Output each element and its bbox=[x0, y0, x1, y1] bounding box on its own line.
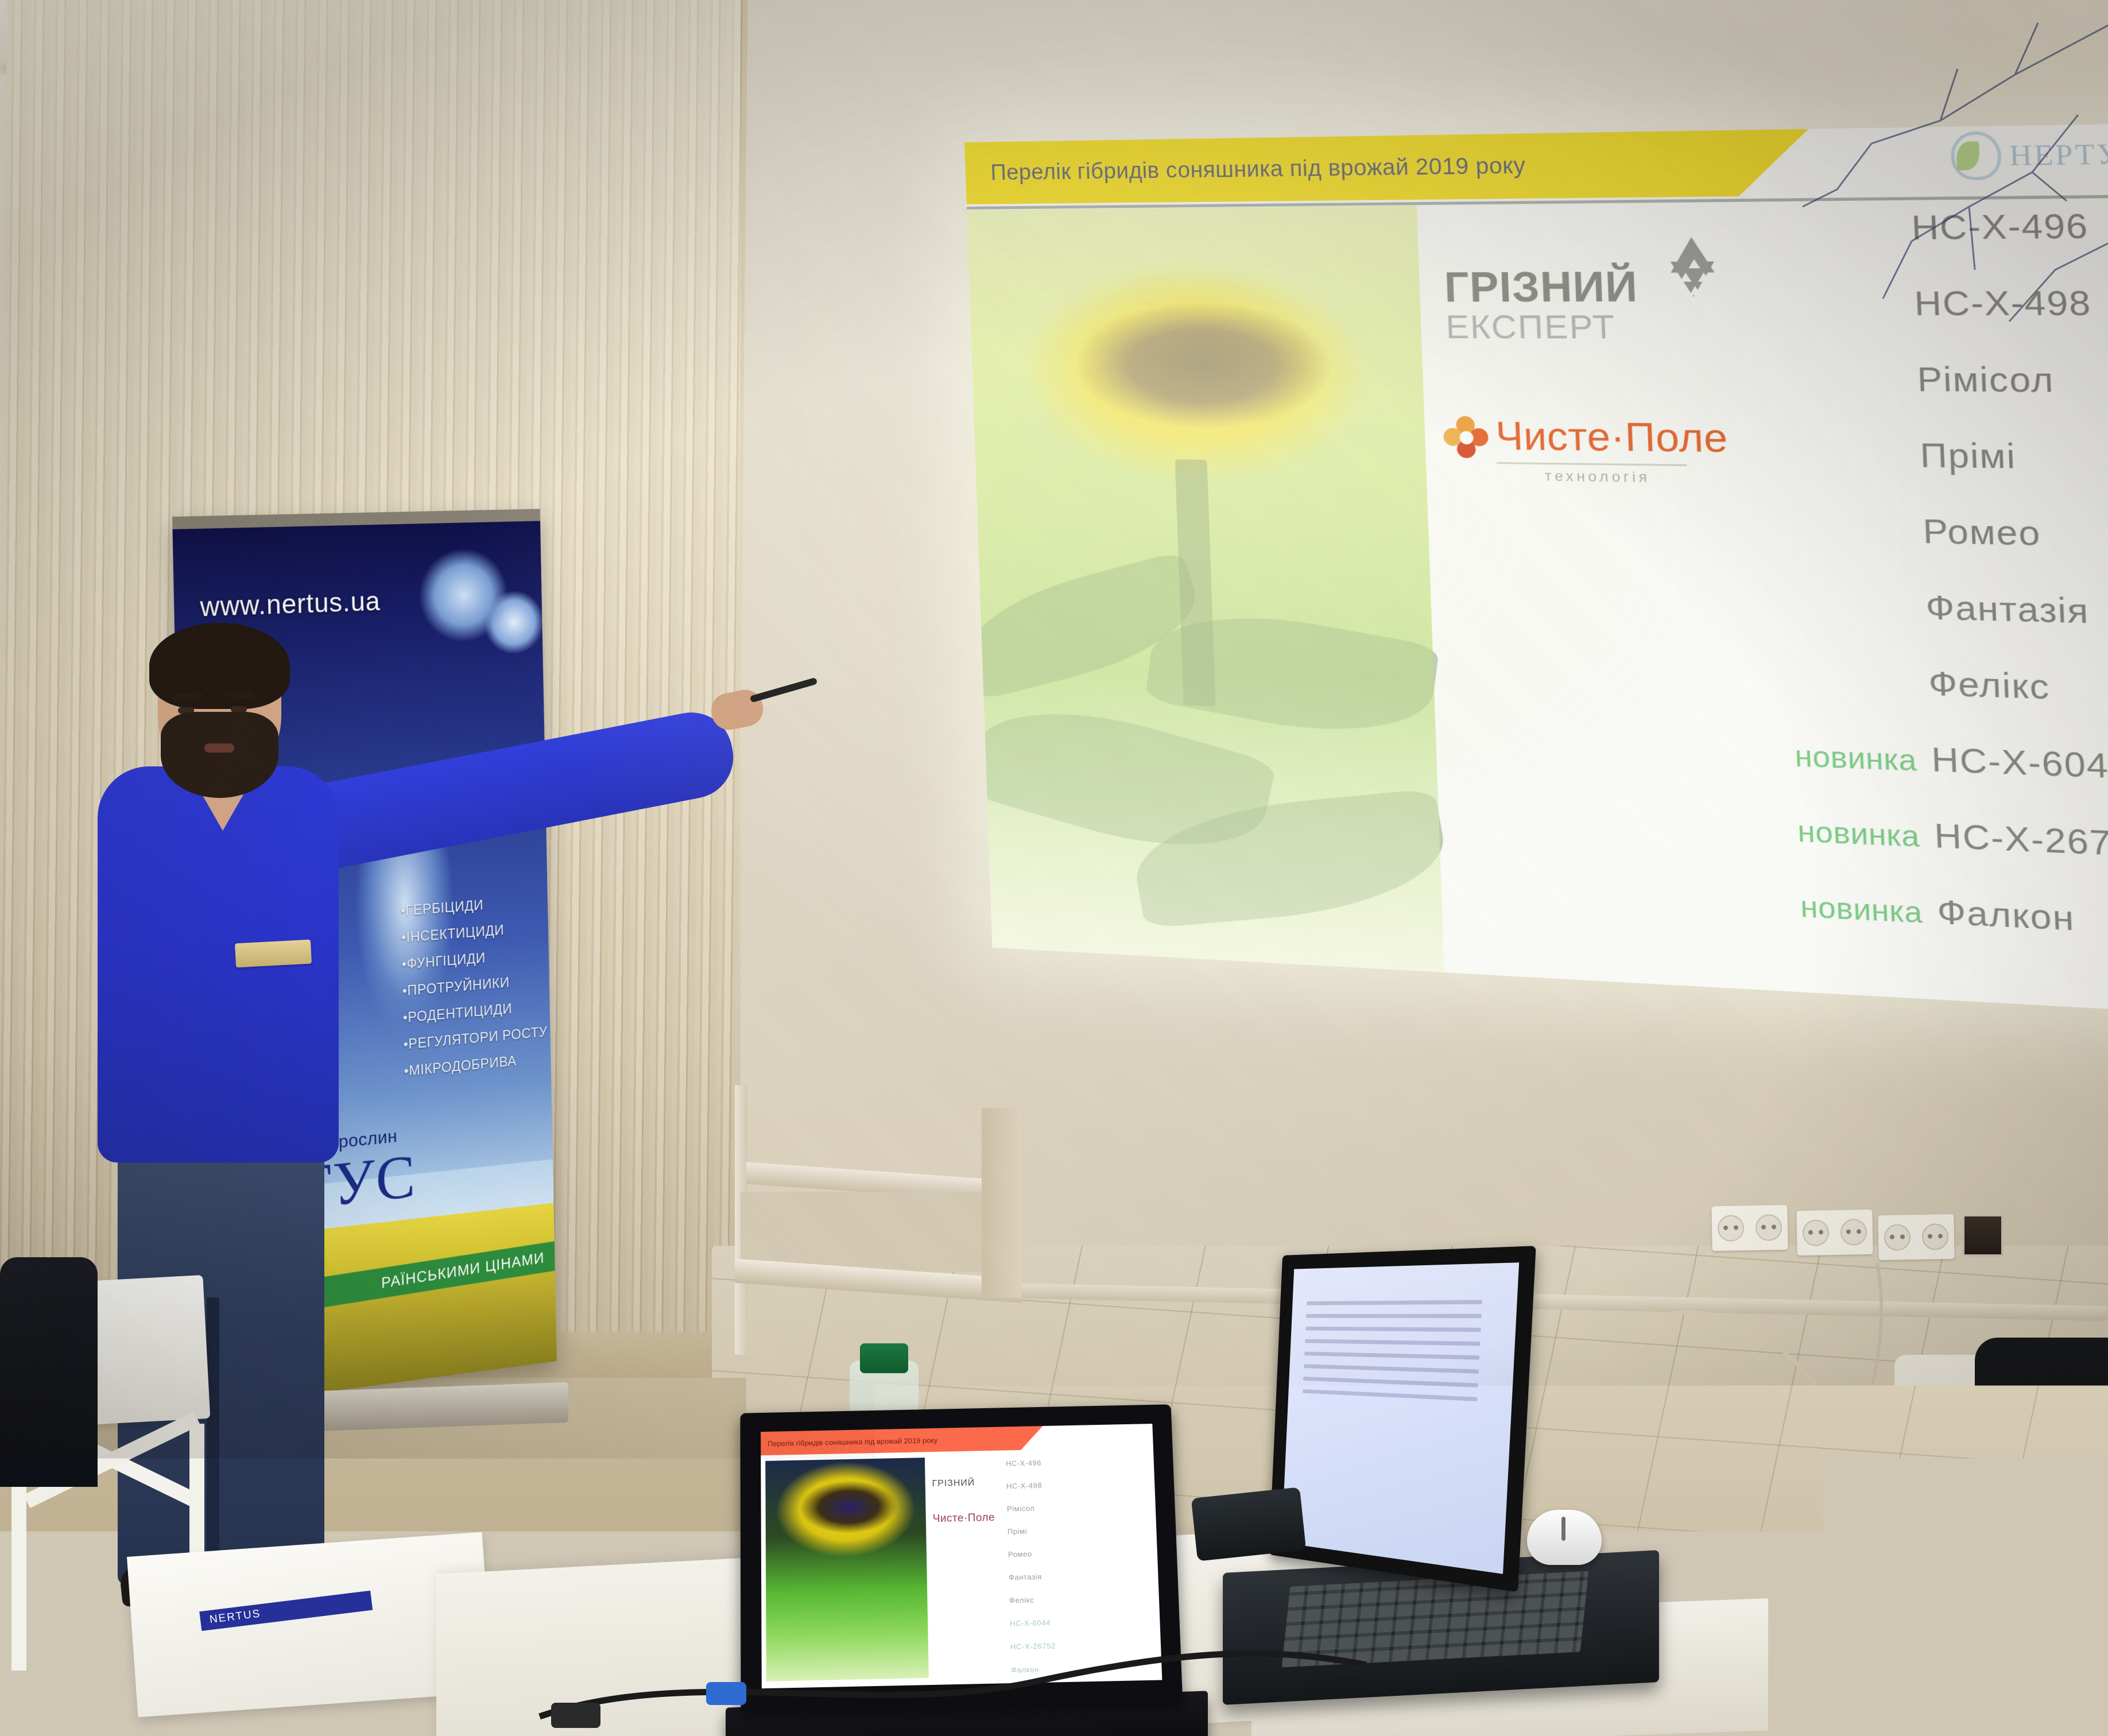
laptop-slide-header: Перелік гібридів соняшника під врожай 20… bbox=[761, 1426, 1043, 1455]
laptop-hybrid: НС-Х-498 bbox=[1006, 1479, 1150, 1505]
wireless-mouse[interactable] bbox=[1527, 1510, 1602, 1565]
hybrid-name: Фантазія bbox=[1925, 587, 2090, 631]
laptop-brand-chyste: Чисте·Поле bbox=[933, 1512, 995, 1525]
hybrid-name: Фалкон bbox=[1936, 891, 2075, 939]
nertus-logo-text: НЕРТУС bbox=[2009, 137, 2108, 172]
scene-root: Перелік гібридів соняшника під врожай 20… bbox=[0, 0, 2108, 1736]
cables-front bbox=[517, 1596, 1378, 1736]
brochure-band: NERTUS bbox=[199, 1591, 373, 1631]
hybrid-name: НС-Х-498 bbox=[1913, 282, 2092, 323]
presenter-beard bbox=[161, 712, 278, 798]
laptop-hybrid: Рімісол bbox=[1007, 1502, 1150, 1528]
hybrid-name: Фелікс bbox=[1928, 662, 2051, 707]
hybrid-name: Прімі bbox=[1919, 435, 2017, 476]
hybrid-row: Фелікс bbox=[1756, 658, 2108, 747]
hybrid-row: НС-Х-498 bbox=[1742, 282, 2108, 359]
banner-url: www.nertus.ua bbox=[200, 586, 381, 623]
mouse-scroll-wheel[interactable] bbox=[1561, 1517, 1565, 1541]
socket-icon bbox=[1922, 1223, 1949, 1250]
chyste-tagline: технологія bbox=[1544, 468, 1717, 487]
chyste-pole-logo: Чисте·Поле технологія bbox=[1449, 412, 1718, 487]
socket-icon bbox=[1803, 1219, 1830, 1246]
hybrid-row: Фантазія bbox=[1753, 583, 2108, 669]
new-badge: новинка bbox=[1759, 738, 1932, 778]
socket-icon bbox=[1884, 1224, 1911, 1251]
hybrid-row: новинка Фалкон bbox=[1764, 883, 2108, 979]
hybrid-name: НС-Х-6044 bbox=[1931, 739, 2108, 787]
hybrid-row: Прімі bbox=[1747, 433, 2108, 514]
laptop-hybrid: Прімі bbox=[1007, 1524, 1152, 1550]
socket-icon bbox=[1756, 1214, 1782, 1241]
hybrid-name: Ромео bbox=[1922, 511, 2041, 553]
power-outlet-1[interactable] bbox=[1711, 1205, 1788, 1251]
socket-icon bbox=[1840, 1219, 1867, 1246]
hybrid-row: Рімісол bbox=[1745, 358, 2108, 437]
hybrid-row: Ромео bbox=[1750, 508, 2108, 592]
stair-riser-lower bbox=[741, 1192, 1010, 1272]
new-badge: новинка bbox=[1765, 889, 1938, 931]
slide-title: Перелік гібридів соняшника під врожай 20… bbox=[965, 153, 1526, 186]
laptop-hybrid: Фантазія bbox=[1009, 1570, 1153, 1596]
laptop-brand-grizny: ГРІЗНИЙ bbox=[932, 1478, 975, 1489]
presenter-hair bbox=[149, 623, 290, 709]
grizny-expert-logo: ГРІЗНИЙ ЕКСПЕРТ bbox=[1444, 265, 1714, 394]
hybrid-name: НС-Х-26752 bbox=[1933, 815, 2108, 865]
seated-attendee-left bbox=[0, 1257, 98, 1487]
brochure-band-text: NERTUS bbox=[199, 1591, 373, 1631]
photo-light-wash bbox=[967, 206, 1444, 972]
projected-slide: Перелік гібридів соняшника під врожай 20… bbox=[964, 123, 2108, 1014]
flower-icon bbox=[1443, 416, 1489, 460]
smartphone[interactable] bbox=[1191, 1487, 1306, 1561]
laptop-hybrid: НС-Х-496 bbox=[1006, 1456, 1149, 1482]
presenter-sweater bbox=[98, 766, 339, 1162]
new-badge: новинка bbox=[1762, 813, 1935, 855]
hybrid-list: НС-Х-496 НС-Х-498 Рімісол Прімі Ромео Фа… bbox=[1739, 205, 2108, 979]
slide-brand-column: ГРІЗНИЙ ЕКСПЕРТ Чисте·Поле технологія bbox=[1444, 265, 1718, 487]
hybrid-row: НС-Х-496 bbox=[1739, 205, 2108, 284]
presenter-name-badge bbox=[235, 940, 312, 968]
chyste-pole-text: Чисте·Поле bbox=[1449, 412, 1716, 461]
star-triangles-icon bbox=[1650, 237, 1737, 323]
hybrid-name: НС-Х-496 bbox=[1911, 206, 2089, 247]
dark-wall-plate[interactable] bbox=[1962, 1214, 2004, 1257]
presenter-mouth bbox=[204, 743, 234, 753]
stair-side bbox=[982, 1108, 1022, 1297]
leaf-shield-icon bbox=[1950, 131, 2002, 180]
laptop-slide-title: Перелік гібридів соняшника під врожай 20… bbox=[761, 1436, 937, 1448]
hybrid-name: Рімісол bbox=[1916, 359, 2055, 400]
bottle-cap bbox=[860, 1343, 908, 1373]
slide-header-bar: Перелік гібридів соняшника під врожай 20… bbox=[964, 129, 1811, 204]
laptop-hybrid: Ромео bbox=[1008, 1547, 1152, 1573]
second-laptop-screen bbox=[1282, 1262, 1520, 1574]
document-lines bbox=[1302, 1300, 1482, 1410]
seated-attendee-right bbox=[1975, 1338, 2108, 1736]
nertus-logo-top-right: НЕРТУС bbox=[1950, 129, 2108, 180]
stairs bbox=[735, 1085, 1033, 1355]
socket-icon bbox=[1718, 1215, 1745, 1242]
chyste-underline bbox=[1497, 462, 1687, 466]
power-outlet-2[interactable] bbox=[1796, 1210, 1873, 1255]
second-laptop-lid bbox=[1269, 1246, 1536, 1592]
